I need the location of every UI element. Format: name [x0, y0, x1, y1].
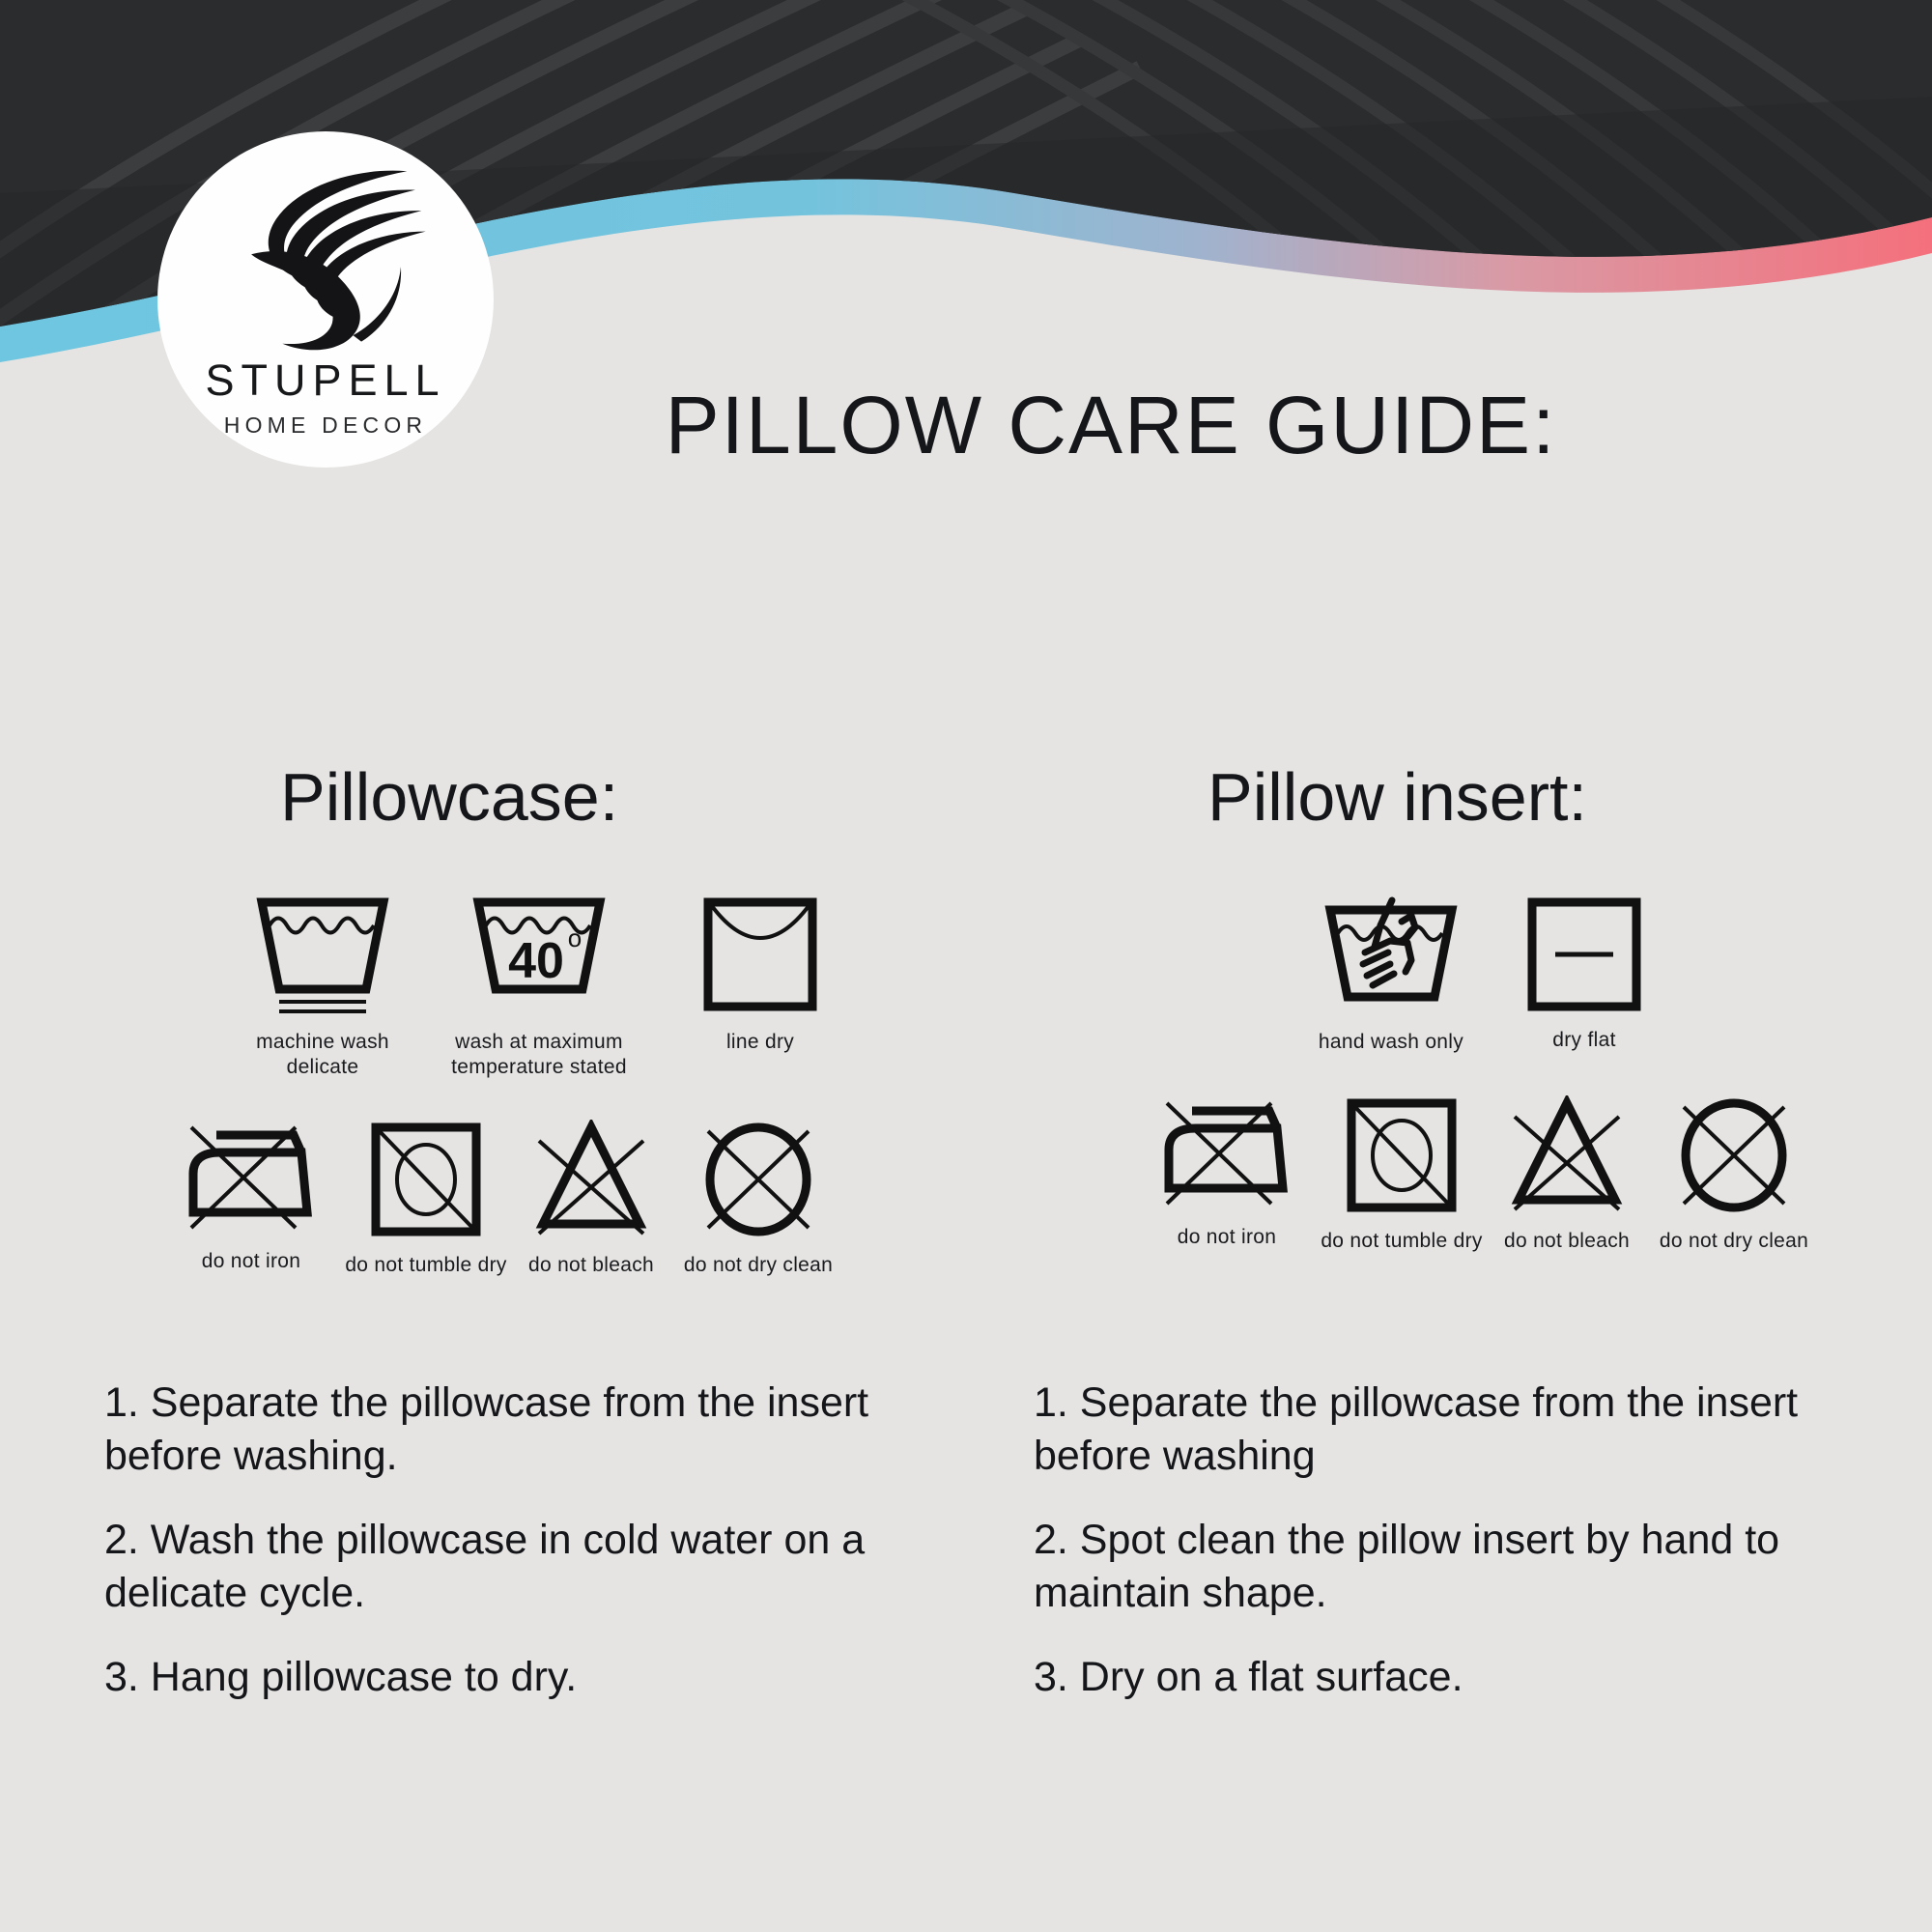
care-symbol-row: do not iron do not tumble dry do not ble… [164, 1120, 1111, 1278]
do-not-tumble-dry-icon [364, 1120, 488, 1239]
care-symbol-dry-flat: dry flat [1488, 893, 1681, 1053]
wash-tub-delicate-icon [250, 893, 395, 1016]
do-not-dry-clean-icon [1670, 1095, 1798, 1215]
line-dry-icon [700, 895, 820, 1016]
care-symbol-label: do not tumble dry [345, 1253, 506, 1278]
care-symbol-wash-40: 40 o wash at maximumtemperature stated [419, 893, 659, 1079]
instruction-item: 2. Spot clean the pillow insert by hand … [1034, 1514, 1884, 1620]
care-symbol-line-dry: line dry [659, 893, 862, 1055]
instructions-pillow-insert: 1. Separate the pillowcase from the inse… [1034, 1377, 1884, 1735]
care-symbol-do-not-bleach: do not bleach [514, 1120, 668, 1278]
care-symbol-label: do not bleach [1504, 1229, 1630, 1254]
care-symbol-do-not-iron: do not iron [164, 1120, 338, 1274]
section-heading-pillowcase: Pillowcase: [280, 763, 1111, 831]
wash-tub-40-degrees-icon: 40 o [467, 893, 611, 1016]
brand-wordmark: STUPELL [205, 358, 445, 402]
hand-wash-only-icon [1319, 893, 1463, 1016]
care-symbol-do-not-iron: do not iron [1140, 1095, 1314, 1250]
do-not-iron-icon [178, 1120, 325, 1236]
care-symbol-label: do not dry clean [1660, 1229, 1808, 1254]
svg-text:40: 40 [508, 933, 564, 989]
care-symbol-label: do not tumble dry [1321, 1229, 1482, 1254]
do-not-bleach-icon [1503, 1095, 1631, 1215]
section-pillow-insert: Pillow insert: h [1207, 763, 1932, 1253]
stupell-swoosh-s-icon [222, 158, 430, 356]
care-symbol-label: do not iron [202, 1249, 301, 1274]
do-not-bleach-icon [527, 1120, 655, 1239]
care-symbol-grid-pillow-insert: hand wash only dry flat d [1207, 893, 1932, 1253]
dry-flat-icon [1524, 896, 1644, 1014]
section-heading-pillow-insert: Pillow insert: [1207, 763, 1932, 831]
svg-text:o: o [568, 923, 582, 952]
care-symbol-row: machine washdelicate 40 o wash at maximu… [226, 893, 1111, 1079]
instruction-item: 2. Wash the pillowcase in cold water on … [104, 1514, 935, 1620]
care-symbol-label: do not iron [1178, 1225, 1277, 1250]
care-symbol-hand-wash-only: hand wash only [1294, 893, 1488, 1055]
brand-subwordmark: HOME DECOR [224, 414, 427, 437]
care-symbol-row: do not iron do not tumble dry do not ble… [1140, 1095, 1932, 1254]
care-symbol-grid-pillowcase: machine washdelicate 40 o wash at maximu… [280, 893, 1111, 1278]
instruction-item: 1. Separate the pillowcase from the inse… [1034, 1377, 1884, 1483]
care-symbol-do-not-tumble-dry: do not tumble dry [338, 1120, 514, 1278]
care-symbol-label: do not bleach [528, 1253, 654, 1278]
care-symbol-do-not-tumble-dry: do not tumble dry [1314, 1095, 1490, 1254]
instructions-pillowcase: 1. Separate the pillowcase from the inse… [104, 1377, 935, 1735]
do-not-tumble-dry-icon [1340, 1095, 1463, 1215]
care-symbol-do-not-bleach: do not bleach [1490, 1095, 1644, 1254]
care-symbol-do-not-dry-clean: do not dry clean [1644, 1095, 1824, 1254]
instruction-item: 3. Hang pillowcase to dry. [104, 1651, 935, 1704]
section-pillowcase: Pillowcase: machine washdelicate 40 o [280, 763, 1111, 1278]
do-not-iron-icon [1153, 1095, 1300, 1211]
care-symbol-label: machine washdelicate [256, 1030, 389, 1079]
instruction-item: 3. Dry on a flat surface. [1034, 1651, 1884, 1704]
instruction-item: 1. Separate the pillowcase from the inse… [104, 1377, 935, 1483]
care-symbol-do-not-dry-clean: do not dry clean [668, 1120, 848, 1278]
care-symbol-label: do not dry clean [684, 1253, 833, 1278]
do-not-dry-clean-icon [695, 1120, 822, 1239]
care-symbol-row: hand wash only dry flat [1294, 893, 1932, 1055]
care-symbol-label: wash at maximumtemperature stated [451, 1030, 627, 1079]
care-symbol-label: dry flat [1552, 1028, 1615, 1053]
brand-logo-badge: STUPELL HOME DECOR [157, 131, 494, 468]
care-symbol-label: line dry [726, 1030, 794, 1055]
care-symbol-machine-wash-delicate: machine washdelicate [226, 893, 419, 1079]
care-symbol-label: hand wash only [1319, 1030, 1463, 1055]
